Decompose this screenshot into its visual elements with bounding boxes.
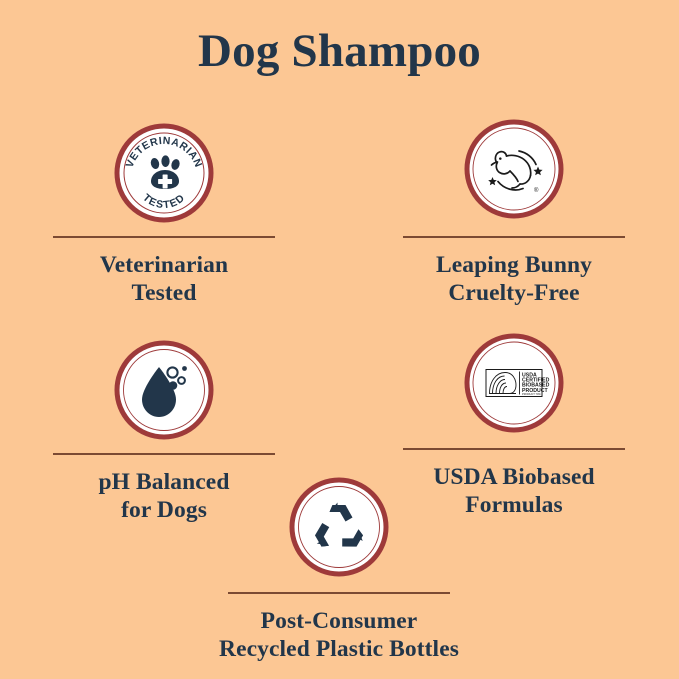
veterinarian-tested-seal-icon: VETERINARIAN TESTED bbox=[114, 123, 214, 223]
registered-trademark-mark: ® bbox=[534, 187, 539, 194]
feature-post-consumer-recycled: Post-Consumer Recycled Plastic Bottles bbox=[199, 477, 479, 663]
page-title: Dog Shampoo bbox=[0, 26, 679, 78]
divider bbox=[53, 236, 275, 238]
usda-label-line-5: PRODUCT 70% bbox=[522, 392, 541, 396]
product-features-panel: Dog Shampoo VETERINARIAN TESTED bbox=[0, 0, 679, 679]
usda-certified-biobased-product-icon: USDA CERTIFIED BIOBASED PRODUCT PRODUCT … bbox=[464, 333, 564, 433]
divider bbox=[53, 453, 275, 455]
divider bbox=[228, 592, 450, 594]
divider bbox=[403, 236, 625, 238]
feature-label-post-consumer-recycled: Post-Consumer Recycled Plastic Bottles bbox=[219, 608, 459, 663]
divider bbox=[403, 448, 625, 450]
feature-leaping-bunny: ® Leaping Bunny Cruelty-Free bbox=[374, 119, 654, 307]
feature-label-veterinarian-tested: Veterinarian Tested bbox=[100, 252, 228, 307]
feature-veterinarian-tested: VETERINARIAN TESTED Veterinarian Tested bbox=[24, 123, 304, 307]
water-droplet-icon bbox=[114, 340, 214, 440]
leaping-bunny-cruelty-free-icon: ® bbox=[464, 119, 564, 219]
feature-label-leaping-bunny: Leaping Bunny Cruelty-Free bbox=[436, 252, 592, 307]
recycle-symbol-icon bbox=[289, 477, 389, 577]
